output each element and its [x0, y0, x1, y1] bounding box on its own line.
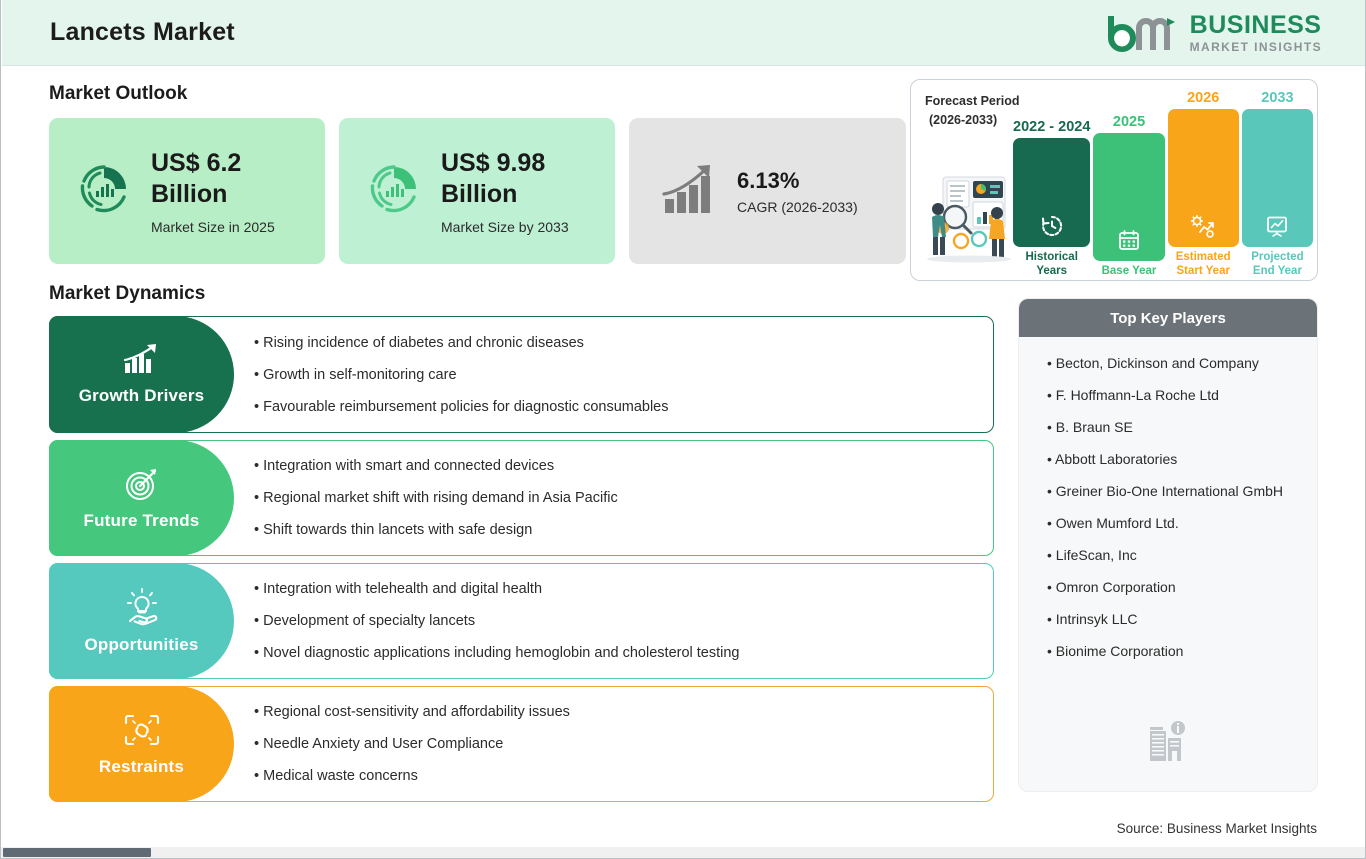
- dynamics-items-opportunities: Integration with telehealth and digital …: [254, 563, 976, 679]
- market-size-2033-value: US$ 9.98: [441, 148, 569, 180]
- forecast-bar-estimated: 2026 Estimated Start Year: [1168, 90, 1239, 278]
- dynamics-item: Novel diagnostic applications including …: [254, 645, 976, 661]
- data-analysis-people-illustration: [921, 173, 1017, 263]
- key-player-item: LifeScan, Inc: [1047, 547, 1301, 563]
- dynamics-item: Needle Anxiety and User Compliance: [254, 736, 976, 752]
- dynamics-label-growth-drivers: Growth Drivers: [79, 386, 205, 406]
- dynamics-item: Growth in self-monitoring care: [254, 367, 976, 383]
- source-note: Source: Business Market Insights: [1117, 821, 1317, 836]
- dynamics-item: Integration with smart and connected dev…: [254, 458, 976, 474]
- cagr-card: 6.13% CAGR (2026-2033): [629, 118, 906, 264]
- dynamics-item: Regional market shift with rising demand…: [254, 490, 976, 506]
- dynamics-row-restraints: Restraints Regional cost-sensitivity and…: [49, 686, 994, 802]
- market-outlook-heading: Market Outlook: [49, 83, 187, 105]
- page-header: Lancets Market BUSINESS MARKET INSIGHTS: [2, 0, 1366, 66]
- key-player-item: Abbott Laboratories: [1047, 451, 1301, 467]
- dynamics-pill-restraints: Restraints: [49, 686, 234, 802]
- cagr-value: 6.13%: [737, 167, 858, 195]
- forecast-caption-2: Estimated Start Year: [1168, 250, 1239, 278]
- forecast-bars: 2022 - 2024 Historical Years 2025: [1013, 90, 1313, 278]
- forecast-bar-historical: 2022 - 2024 Historical Years: [1013, 90, 1090, 278]
- forecast-caption-1: Base Year: [1102, 264, 1157, 278]
- forecast-bar-rect-2: [1168, 109, 1239, 247]
- forecast-bar-rect-3: [1242, 109, 1313, 247]
- market-size-2033-caption: Market Size by 2033: [441, 219, 569, 235]
- lightbulb-hand-icon: [120, 588, 164, 631]
- forecast-year-2: 2026: [1187, 90, 1219, 106]
- market-size-2025-unit: Billion: [151, 179, 275, 211]
- growth-bars-arrow-icon: [122, 343, 162, 382]
- forecast-bar-projected: 2033 Projected End Year: [1242, 90, 1313, 278]
- dynamics-label-opportunities: Opportunities: [84, 635, 198, 655]
- top-key-players-header: Top Key Players: [1019, 299, 1317, 337]
- top-key-players-list: Becton, Dickinson and Company F. Hoffman…: [1019, 337, 1317, 659]
- infographic-page: Lancets Market BUSINESS MARKET INSIGHTS …: [0, 0, 1366, 859]
- dynamics-items-restraints: Regional cost-sensitivity and affordabil…: [254, 686, 976, 802]
- dynamics-label-restraints: Restraints: [99, 757, 184, 777]
- presentation-chart-icon: [1265, 214, 1289, 238]
- dynamics-row-future-trends: Future Trends Integration with smart and…: [49, 440, 994, 556]
- market-size-2025-value: US$ 6.2: [151, 148, 275, 180]
- company-info-building-icon: [1145, 718, 1191, 769]
- donut-bar-chart-icon: [75, 160, 133, 223]
- top-key-players-title: Top Key Players: [1110, 310, 1226, 327]
- dynamics-items-future-trends: Integration with smart and connected dev…: [254, 440, 976, 556]
- brand-logo: BUSINESS MARKET INSIGHTS: [1105, 13, 1322, 53]
- market-size-2025-card: US$ 6.2 Billion Market Size in 2025: [49, 118, 325, 264]
- scrollbar-thumb[interactable]: [3, 848, 151, 857]
- market-size-2033-unit: Billion: [441, 179, 569, 211]
- forecast-period-chart: Forecast Period (2026-2033): [910, 79, 1318, 281]
- dynamics-row-growth-drivers: Growth Drivers Rising incidence of diabe…: [49, 316, 994, 433]
- logo-brand-primary: BUSINESS: [1190, 13, 1322, 38]
- dynamics-item: Development of specialty lancets: [254, 613, 976, 629]
- logo-brand-secondary: MARKET INSIGHTS: [1190, 41, 1322, 53]
- dynamics-item: Medical waste concerns: [254, 768, 976, 784]
- donut-bar-chart-icon: [365, 160, 423, 223]
- dynamics-item: Favourable reimbursement policies for di…: [254, 399, 976, 415]
- market-size-2033-card: US$ 9.98 Billion Market Size by 2033: [339, 118, 615, 264]
- dynamics-pill-opportunities: Opportunities: [49, 563, 234, 679]
- key-player-item: Greiner Bio-One International GmbH: [1047, 483, 1301, 499]
- forecast-gear-icon: [1190, 214, 1216, 238]
- bmi-logo-icon: [1105, 14, 1181, 52]
- dynamics-pill-growth-drivers: Growth Drivers: [49, 316, 234, 433]
- forecast-bar-base: 2025 Base Year: [1093, 90, 1164, 278]
- forecast-year-0: 2022 - 2024: [1013, 119, 1090, 135]
- dynamics-item: Integration with telehealth and digital …: [254, 581, 976, 597]
- key-player-item: F. Hoffmann-La Roche Ltd: [1047, 387, 1301, 403]
- dynamics-pill-future-trends: Future Trends: [49, 440, 234, 556]
- dynamics-items-growth-drivers: Rising incidence of diabetes and chronic…: [254, 316, 976, 433]
- forecast-caption-3: Projected End Year: [1242, 250, 1313, 278]
- forecast-year-3: 2033: [1261, 90, 1293, 106]
- forecast-bar-rect-1: [1093, 133, 1164, 261]
- dynamics-row-opportunities: Opportunities Integration with telehealt…: [49, 563, 994, 679]
- horizontal-scrollbar[interactable]: [1, 847, 1366, 858]
- forecast-bar-rect-0: [1013, 138, 1090, 247]
- clock-history-icon: [1040, 214, 1064, 238]
- dynamics-item: Rising incidence of diabetes and chronic…: [254, 335, 976, 351]
- forecast-caption-0: Historical Years: [1013, 250, 1090, 278]
- key-player-item: Bionime Corporation: [1047, 643, 1301, 659]
- key-player-item: Intrinsyk LLC: [1047, 611, 1301, 627]
- dynamics-item: Shift towards thin lancets with safe des…: [254, 522, 976, 538]
- target-dart-icon: [122, 466, 162, 507]
- market-dynamics-heading: Market Dynamics: [49, 283, 205, 305]
- key-player-item: Owen Mumford Ltd.: [1047, 515, 1301, 531]
- market-outlook-cards: US$ 6.2 Billion Market Size in 2025: [49, 118, 906, 264]
- key-player-item: Omron Corporation: [1047, 579, 1301, 595]
- top-key-players-panel: Top Key Players Becton, Dickinson and Co…: [1018, 298, 1318, 792]
- cagr-caption: CAGR (2026-2033): [737, 199, 858, 215]
- chain-link-brackets-icon: [122, 712, 162, 753]
- market-size-2025-caption: Market Size in 2025: [151, 219, 275, 235]
- calendar-icon: [1117, 228, 1141, 252]
- key-player-item: Becton, Dickinson and Company: [1047, 355, 1301, 371]
- growth-arrow-bars-icon: [661, 161, 723, 222]
- dynamics-item: Regional cost-sensitivity and affordabil…: [254, 704, 976, 720]
- key-player-item: B. Braun SE: [1047, 419, 1301, 435]
- dynamics-label-future-trends: Future Trends: [84, 511, 200, 531]
- forecast-period-subtitle: (2026-2033): [929, 113, 997, 127]
- page-title: Lancets Market: [50, 18, 235, 47]
- forecast-year-1: 2025: [1113, 114, 1145, 130]
- forecast-period-title: Forecast Period: [925, 94, 1019, 108]
